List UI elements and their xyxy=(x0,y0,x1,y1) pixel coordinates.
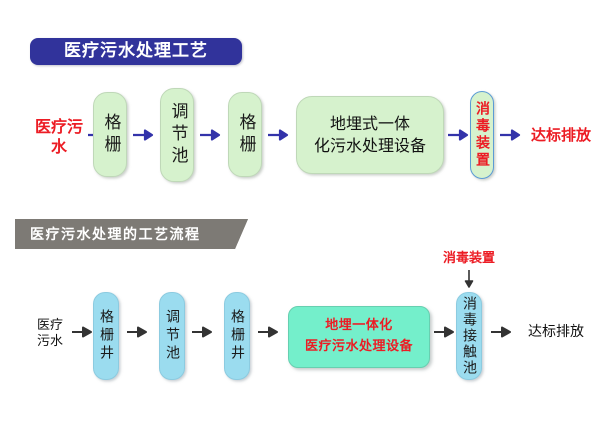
section1-node-4-label-line1: 地埋式一体 xyxy=(330,113,410,135)
section2-node-3-label: 格栅井 xyxy=(230,309,244,363)
section2-node-4: 地埋一体化 医疗污水处理设备 xyxy=(288,306,430,368)
section1-arrow-2 xyxy=(133,128,155,142)
section2-node-2: 调节池 xyxy=(159,292,185,380)
section2-inlet-label-line2: 污水 xyxy=(26,334,74,350)
section2-node-2-label: 调节池 xyxy=(165,309,179,363)
section2-node-4-label-line2: 医疗污水处理设备 xyxy=(305,337,413,358)
section1-node-2: 调节池 xyxy=(160,88,194,182)
section2-node-5: 消毒接触池 xyxy=(456,292,482,380)
section1-node-1: 格栅 xyxy=(93,92,127,177)
section2-node-1-label: 格栅井 xyxy=(99,309,113,363)
diagram-canvas: 医疗污水处理工艺 医疗污水 格栅 调节池 格栅 地埋式一体 xyxy=(0,0,600,430)
section2-arrow-6 xyxy=(491,325,513,339)
section2-callout-arrow xyxy=(462,270,476,290)
section2-arrow-4 xyxy=(258,325,280,339)
section1-inlet-label: 医疗污水 xyxy=(30,117,88,156)
section2-arrow-3 xyxy=(192,325,214,339)
section2-arrow-2 xyxy=(127,325,149,339)
section1-node-5-label: 消毒装置 xyxy=(475,101,489,169)
section1-node-2-label: 调节池 xyxy=(169,102,186,168)
section2-inlet-label-line1: 医疗 xyxy=(26,318,74,334)
section1-outlet-label: 达标排放 xyxy=(524,126,598,144)
section1-node-3: 格栅 xyxy=(228,92,262,177)
section2-title-text: 医疗污水处理的工艺流程 xyxy=(30,224,201,244)
section1-node-4: 地埋式一体 化污水处理设备 xyxy=(296,96,444,174)
section1-node-3-label: 格栅 xyxy=(237,113,254,157)
section1-node-1-label: 格栅 xyxy=(102,113,119,157)
section1-arrow-3 xyxy=(200,128,222,142)
section2-arrow-1 xyxy=(72,325,94,339)
section2-node-4-label-line1: 地埋一体化 xyxy=(325,316,393,337)
section2-arrow-5 xyxy=(434,325,456,339)
section1-title-banner: 医疗污水处理工艺 xyxy=(30,38,242,65)
section2-node-1: 格栅井 xyxy=(93,292,119,380)
section1-node-4-label-line2: 化污水处理设备 xyxy=(314,135,426,157)
section1-node-5: 消毒装置 xyxy=(470,91,494,179)
section2-outlet-label: 达标排放 xyxy=(519,324,593,341)
section1-arrow-4 xyxy=(268,128,290,142)
section2-title-text-wrap: 医疗污水处理的工艺流程 xyxy=(30,219,230,249)
section1-title-text: 医疗污水处理工艺 xyxy=(64,43,208,60)
section1-arrow-5 xyxy=(448,128,470,142)
section1-arrow-6 xyxy=(500,128,522,142)
section2-node-3: 格栅井 xyxy=(224,292,250,380)
section2-inlet-label: 医疗 污水 xyxy=(26,318,74,350)
section2-node-5-label: 消毒接触池 xyxy=(462,296,476,376)
section2-callout-label: 消毒装置 xyxy=(430,251,508,267)
